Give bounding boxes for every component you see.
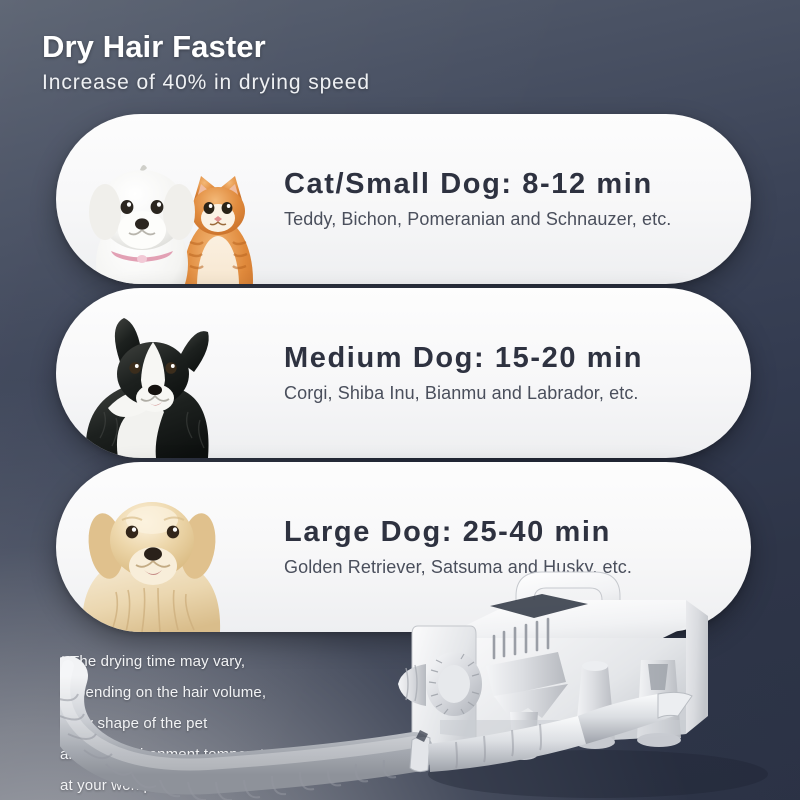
card-title: Medium Dog: 15-20 min [284, 340, 643, 376]
border-collie-image [56, 288, 286, 458]
pet-size-card-medium[interactable]: Medium Dog: 15-20 min Corgi, Shiba Inu, … [56, 288, 751, 458]
card-subtitle: Teddy, Bichon, Pomeranian and Schnauzer,… [284, 206, 671, 232]
maltese-dog-and-cat-image [56, 114, 286, 284]
card-title: Large Dog: 25-40 min [284, 514, 632, 550]
card-title: Cat/Small Dog: 8-12 min [284, 166, 671, 202]
card-text-block: Medium Dog: 15-20 min Corgi, Shiba Inu, … [284, 340, 643, 406]
flexible-hose [60, 640, 800, 800]
pet-size-card-small[interactable]: Cat/Small Dog: 8-12 min Teddy, Bichon, P… [56, 114, 751, 284]
golden-retriever-image [56, 462, 286, 632]
card-subtitle: Corgi, Shiba Inu, Bianmu and Labrador, e… [284, 380, 643, 406]
page-subtitle: Increase of 40% in drying speed [42, 68, 370, 98]
card-text-block: Cat/Small Dog: 8-12 min Teddy, Bichon, P… [284, 166, 671, 232]
header: Dry Hair Faster Increase of 40% in dryin… [42, 28, 370, 98]
page-title: Dry Hair Faster [42, 28, 370, 66]
